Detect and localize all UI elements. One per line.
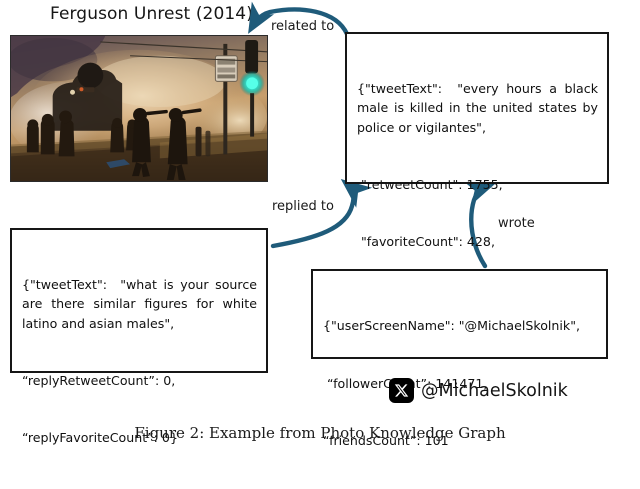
- reply-retweet-count-field: “replyRetweetCount”: 0,: [22, 371, 257, 390]
- edge-replied-to: [273, 184, 354, 246]
- user-json-node: {"userScreenName": "@MichaelSkolnik", “f…: [311, 269, 608, 359]
- x-twitter-logo-icon: [389, 378, 414, 403]
- photo-node: [10, 35, 268, 182]
- edge-label-related-to: related to: [271, 19, 334, 34]
- x-account-footer: @MichaelSkolnik: [389, 378, 568, 403]
- edge-label-replied-to: replied to: [272, 199, 334, 214]
- tweet-favorite-count-field: "favoriteCount": 428,: [357, 232, 598, 251]
- tweet-retweet-count-field: "retweetCount": 1755,: [357, 175, 598, 194]
- figure-caption: Figure 2: Example from Photo Knowledge G…: [0, 424, 640, 442]
- figure-canvas: Ferguson Unrest (2014): [0, 0, 640, 439]
- user-screen-name-field: {"userScreenName": "@MichaelSkolnik",: [323, 316, 597, 335]
- ferguson-unrest-protest-photo: [11, 36, 267, 181]
- reply-text-field: {"tweetText": "what is your source are t…: [22, 275, 257, 332]
- x-account-handle: @MichaelSkolnik: [421, 381, 568, 401]
- tweet-json-node: {"tweetText": "every hours a black male …: [345, 32, 609, 184]
- tweet-text-field: {"tweetText": "every hours a black male …: [357, 79, 598, 136]
- reply-json-node: {"tweetText": "what is your source are t…: [10, 228, 268, 373]
- page-title: Ferguson Unrest (2014): [50, 4, 253, 24]
